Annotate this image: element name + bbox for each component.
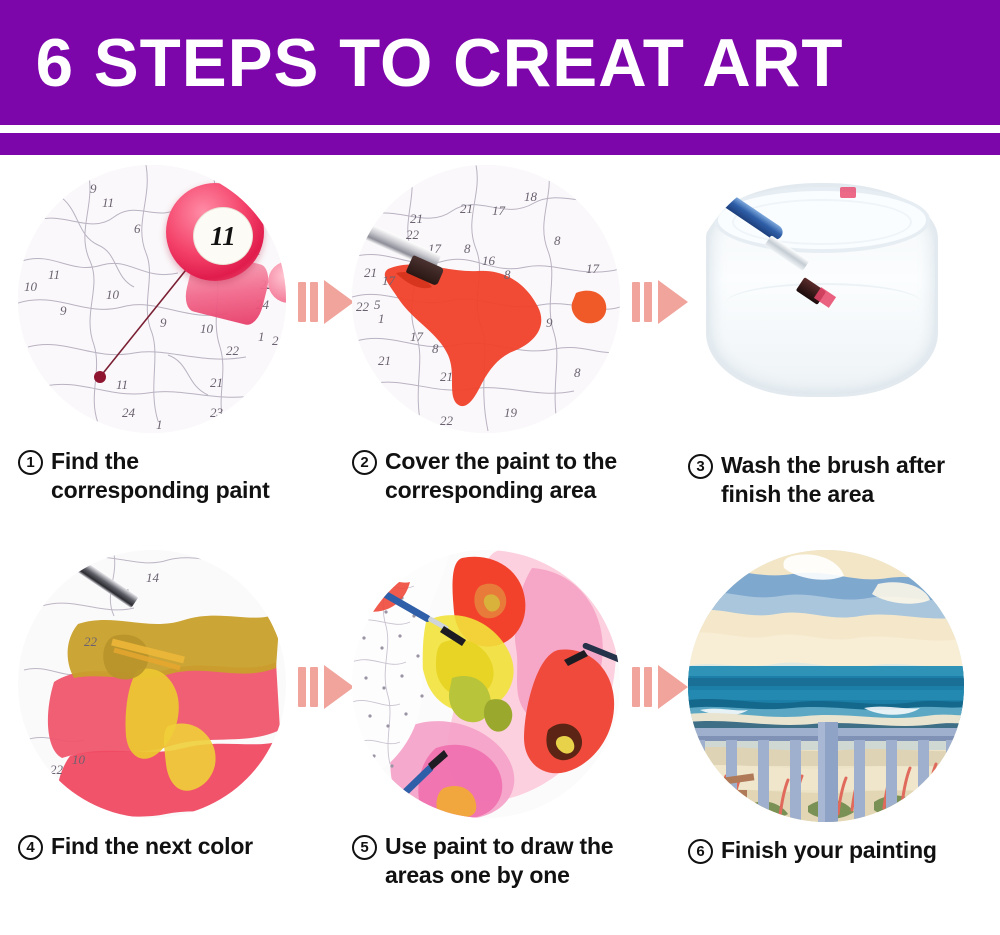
step-4-text: Find the next color (51, 832, 293, 861)
canvas-number: 11 (102, 195, 114, 211)
canvas-number: 9 (160, 315, 167, 331)
canvas-number: 9 (90, 181, 97, 197)
canvas-number: 17 (492, 203, 505, 219)
canvas-number: 17 (586, 261, 599, 277)
canvas-number: 21 (440, 369, 453, 385)
canvas-number: 21 (460, 201, 473, 217)
step-3-image (688, 165, 964, 437)
canvas-number: 11 (116, 377, 128, 393)
step-5-image (352, 550, 620, 818)
step-2-caption: 2 Cover the paint to the corresponding a… (352, 447, 627, 506)
canvas-number: 8 (554, 233, 561, 249)
canvas-number: 9 (60, 303, 67, 319)
steps-row-bottom: 14 24 22 10 22 4 Find the next color (0, 550, 1000, 935)
canvas-number: 17 (410, 329, 423, 345)
step-1-text: Find the corresponding paint (51, 447, 293, 506)
arrow-step1-to-step2 (298, 280, 360, 324)
step-3-caption: 3 Wash the brush after finish the area (688, 451, 963, 510)
canvas-number: 11 (48, 267, 60, 283)
step-5-number: 5 (352, 835, 377, 860)
step-3-text: Wash the brush after finish the area (721, 451, 963, 510)
canvas-number: 22 (50, 762, 63, 778)
arrow-triangle-icon (324, 280, 354, 324)
step-3-number: 3 (688, 454, 713, 479)
step-5: 5 Use paint to draw the areas one by one (352, 550, 627, 935)
step-2: 21 17 18 21 22 17 8 8 16 8 17 21 17 22 5… (352, 165, 627, 550)
step-6-number: 6 (688, 839, 713, 864)
canvas-number: 8 (464, 241, 471, 257)
canvas-number: 21 (364, 265, 377, 281)
canvas-number: 21 (378, 353, 391, 369)
step-4-caption: 4 Find the next color (18, 832, 293, 861)
canvas-number: 17 (382, 273, 395, 289)
arrow-bar-icon (644, 282, 652, 322)
canvas-number: 22 (226, 343, 239, 359)
arrow-bar-icon (644, 667, 652, 707)
steps-grid: 9 11 6 11 10 10 9 9 10 21 22 24 1 21 22 … (0, 165, 1000, 935)
floral-painting-artwork (352, 550, 620, 818)
arrow-triangle-icon (658, 280, 688, 324)
arrow-triangle-icon (324, 665, 354, 709)
canvas-number: 10 (106, 287, 119, 303)
step-5-caption: 5 Use paint to draw the areas one by one (352, 832, 627, 891)
step-1-image: 9 11 6 11 10 10 9 9 10 21 22 24 1 21 22 … (18, 165, 286, 433)
canvas-number: 14 (146, 570, 159, 586)
paint-pot-number: 11 (210, 221, 236, 252)
step-3: 3 Wash the brush after finish the area (688, 165, 963, 550)
arrow-bar-icon (310, 667, 318, 707)
header-accent-stripe (0, 133, 1000, 155)
canvas-number: 21 (410, 211, 423, 227)
paint-residue (840, 187, 856, 198)
canvas-number: 10 (72, 752, 85, 768)
step-4: 14 24 22 10 22 4 Find the next color (18, 550, 293, 935)
step-4-number: 4 (18, 835, 43, 860)
arrow-bar-icon (632, 282, 640, 322)
canvas-number: 23 (210, 405, 223, 421)
canvas-number: 22 (356, 299, 369, 315)
canvas-number: 10 (200, 321, 213, 337)
step-2-text: Cover the paint to the corresponding are… (385, 447, 627, 506)
canvas-number: 16 (482, 253, 495, 269)
canvas-number: 1 (258, 329, 265, 345)
canvas-number: 22 (84, 634, 97, 650)
canvas-number: 21 (272, 333, 285, 349)
steps-row-top: 9 11 6 11 10 10 9 9 10 21 22 24 1 21 22 … (0, 165, 1000, 550)
paint-pot-label: 11 (193, 207, 253, 265)
arrow-bar-icon (298, 667, 306, 707)
canvas-number: 8 (574, 365, 581, 381)
step-1: 9 11 6 11 10 10 9 9 10 21 22 24 1 21 22 … (18, 165, 293, 550)
finished-beach-painting (688, 550, 964, 822)
canvas-number: 6 (134, 221, 141, 237)
arrow-step5-to-step6 (632, 665, 694, 709)
canvas-number: 19 (504, 405, 517, 421)
canvas-number: 10 (24, 279, 37, 295)
arrow-bar-icon (310, 282, 318, 322)
canvas-number: 21 (210, 375, 223, 391)
step-6-caption: 6 Finish your painting (688, 836, 963, 865)
step-1-caption: 1 Find the corresponding paint (18, 447, 293, 506)
infographic-page: 6 STEPS TO CREAT ART (0, 0, 1000, 935)
arrow-bar-icon (632, 667, 640, 707)
canvas-number: 8 (432, 341, 439, 357)
step-6-text: Finish your painting (721, 836, 963, 865)
canvas-number: 22 (440, 413, 453, 429)
canvas-number: 1 (156, 417, 163, 433)
arrow-step4-to-step5 (298, 665, 360, 709)
step-1-number: 1 (18, 450, 43, 475)
canvas-number: 18 (524, 189, 537, 205)
numbered-canvas-with-red-paint (352, 165, 620, 433)
step-5-text: Use paint to draw the areas one by one (385, 832, 627, 891)
canvas-number: 24 (122, 405, 135, 421)
canvas-number: 8 (504, 267, 511, 283)
arrow-triangle-icon (658, 665, 688, 709)
page-title: 6 STEPS TO CREAT ART (0, 29, 843, 97)
step-2-image: 21 17 18 21 22 17 8 8 16 8 17 21 17 22 5… (352, 165, 620, 433)
arrow-step2-to-step3 (632, 280, 694, 324)
canvas-number: 9 (546, 315, 553, 331)
canvas-number: 1 (378, 311, 385, 327)
step-6: 6 Finish your painting (688, 550, 963, 935)
step-2-number: 2 (352, 450, 377, 475)
step-4-image: 14 24 22 10 22 (18, 550, 286, 818)
header-banner: 6 STEPS TO CREAT ART (0, 0, 1000, 125)
arrow-bar-icon (298, 282, 306, 322)
step-6-image (688, 550, 964, 822)
